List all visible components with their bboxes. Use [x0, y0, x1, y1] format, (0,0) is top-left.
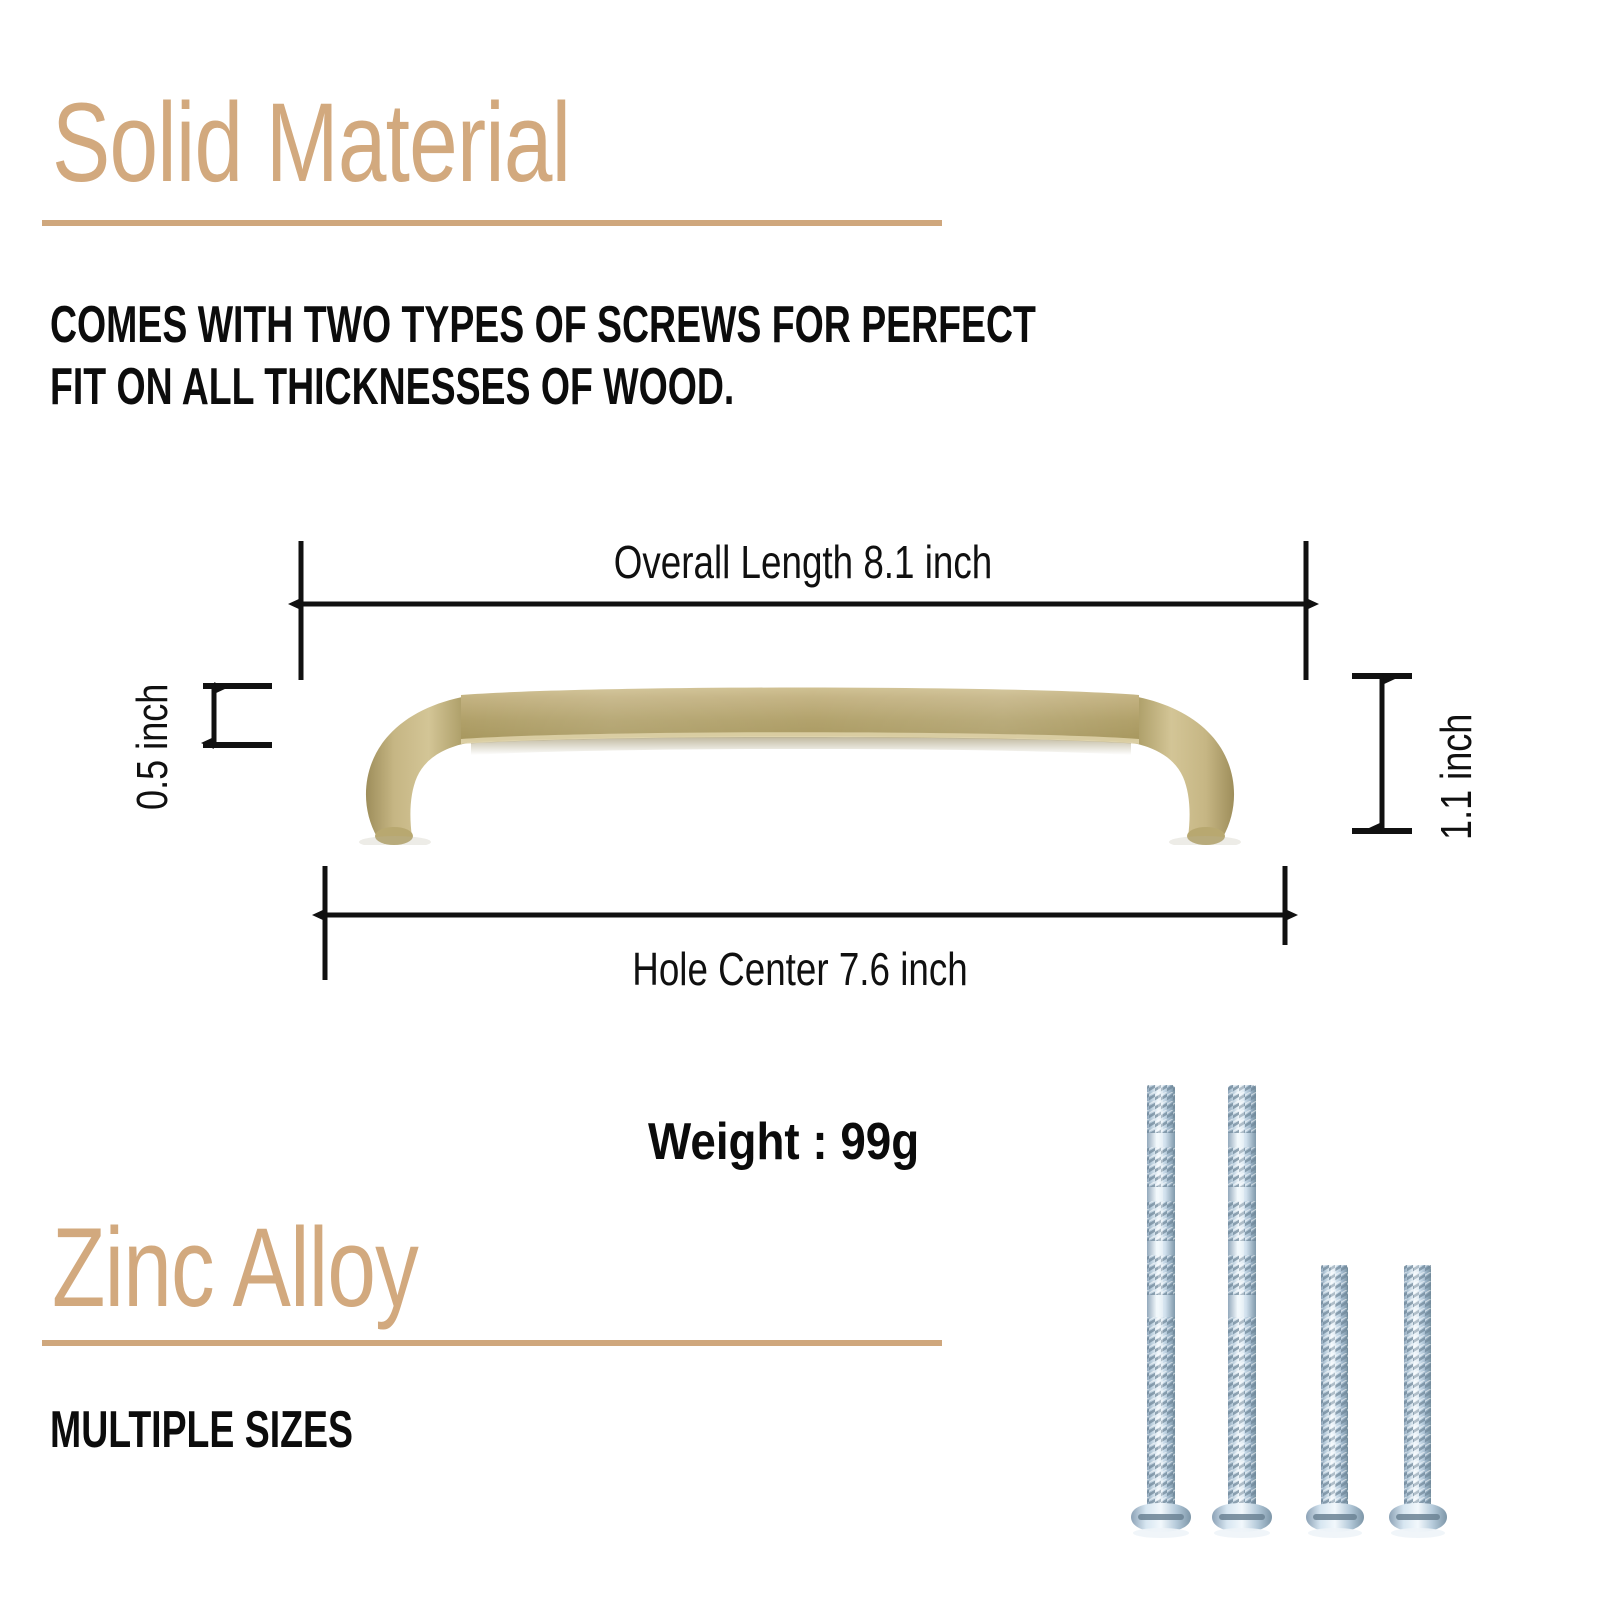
overall-length-label: Overall Length 8.1 inch [614, 535, 992, 589]
screws-image [1125, 1065, 1465, 1565]
cabinet-pull-handle-image [285, 655, 1315, 845]
handle-left-leg [366, 696, 467, 837]
section-one-body-line-1: COMES WITH TWO TYPES OF SCREWS FOR PERFE… [50, 295, 1036, 355]
screw-short-2 [1389, 1265, 1447, 1538]
handle-right-shadow [1169, 836, 1241, 845]
section-two-heading: Zinc Alloy [52, 1203, 418, 1332]
handle-bar-undershadow [471, 737, 1131, 755]
bar-thickness-label: 0.5 inch [128, 684, 178, 810]
section-two-divider [42, 1340, 942, 1346]
screw-long-1 [1131, 1085, 1191, 1538]
weight-label: Weight : 99g [648, 1112, 919, 1172]
hole-center-label: Hole Center 7.6 inch [632, 942, 967, 996]
section-two-body-line-1: MULTIPLE SIZES [50, 1400, 353, 1460]
screw-long-2 [1212, 1085, 1272, 1538]
handle-left-shadow [359, 836, 431, 845]
section-one-divider [42, 220, 942, 226]
section-one-heading: Solid Material [52, 78, 570, 207]
section-one-body-line-2: FIT ON ALL THICKNESSES OF WOOD. [50, 357, 734, 417]
projection-label: 1.1 inch [1432, 714, 1482, 840]
screw-short-1 [1306, 1265, 1364, 1538]
product-infographic: Solid Material COMES WITH TWO TYPES OF S… [0, 0, 1600, 1600]
handle-right-leg [1133, 696, 1234, 837]
